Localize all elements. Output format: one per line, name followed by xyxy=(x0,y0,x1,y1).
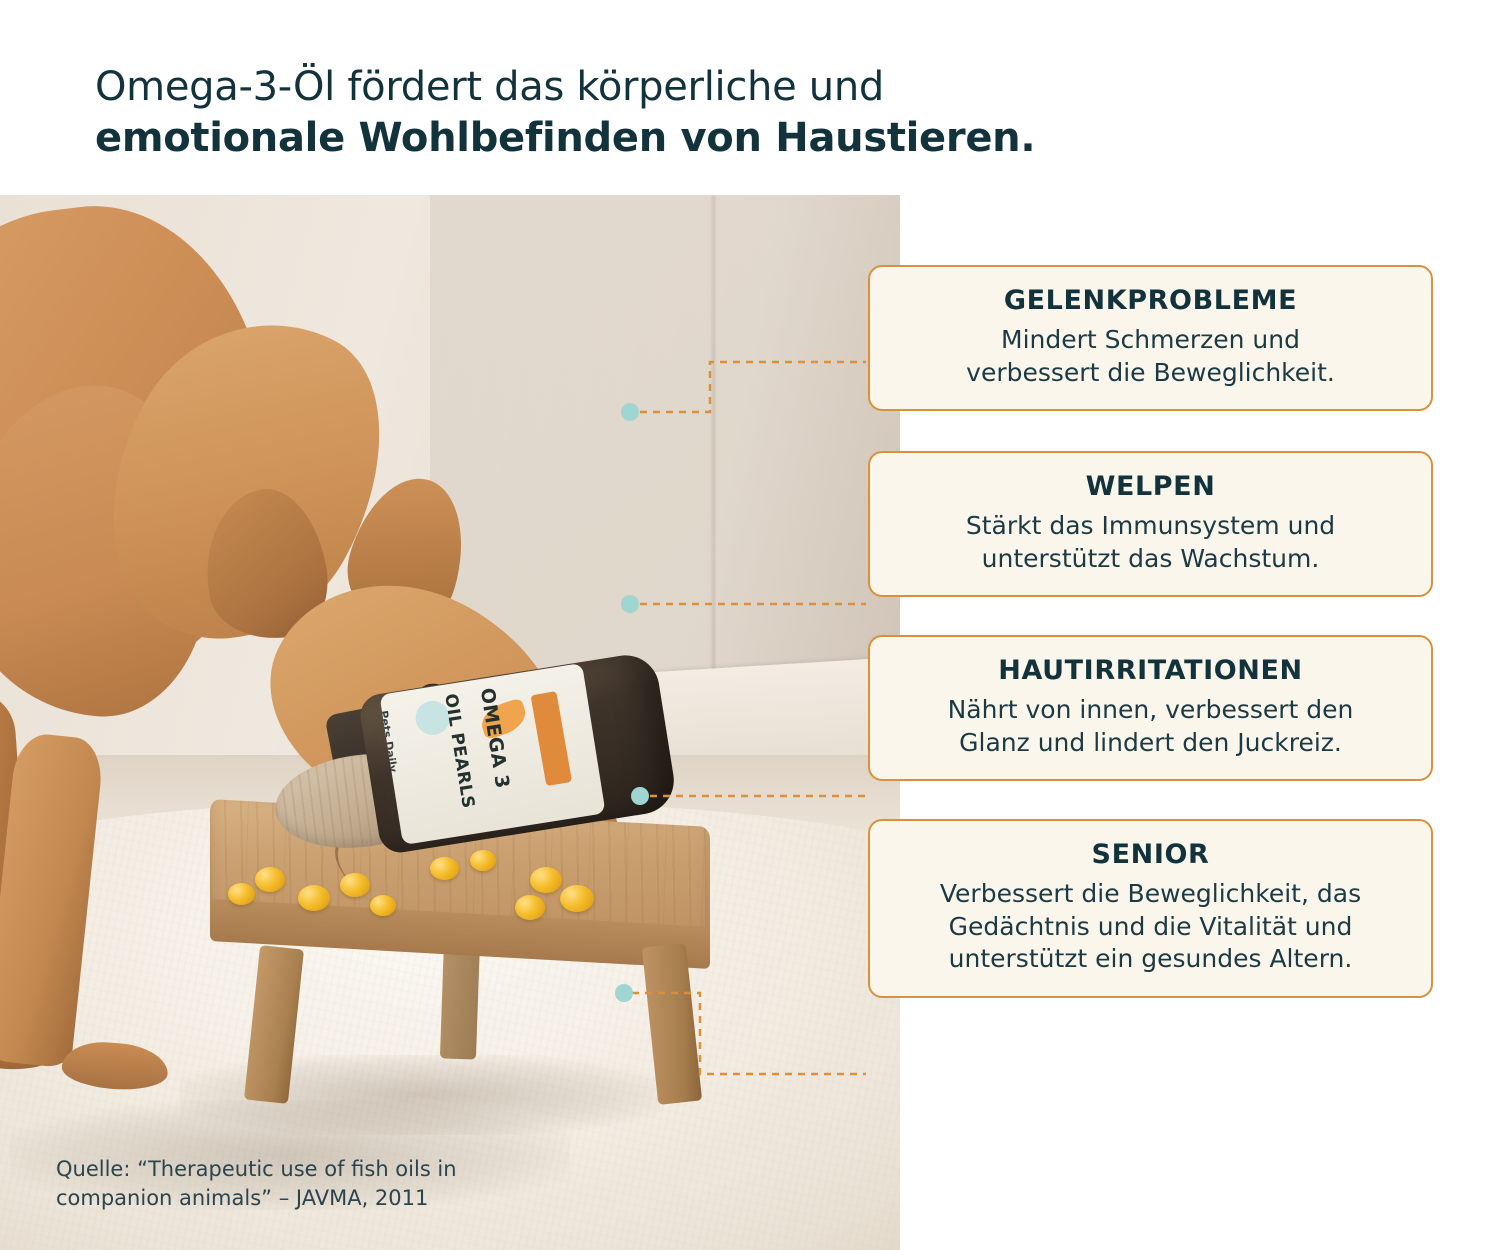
label-title: OIL PEARLS xyxy=(440,692,478,810)
page-title: Omega-3-Öl fördert das körperliche und e… xyxy=(95,62,1245,164)
card-text-line-2: Gedächtnis und die Vitalität und xyxy=(892,911,1409,944)
card-text-line-2: verbessert die Beweglichkeit. xyxy=(892,357,1409,390)
card-text-line-1: Verbessert die Beweglichkeit, das xyxy=(892,878,1409,911)
oil-capsule xyxy=(298,885,330,911)
oil-capsule xyxy=(370,895,396,916)
card-text-line-1: Nährt von innen, verbessert den xyxy=(892,694,1409,727)
product-photo: Pets Daily OIL PEARLS OMEGA 3 xyxy=(0,195,900,1250)
label-badge xyxy=(531,691,573,786)
bottle-label: Pets Daily OIL PEARLS OMEGA 3 xyxy=(379,663,605,845)
source-line-1: Quelle: “Therapeutic use of fish oils in xyxy=(56,1155,616,1183)
headline-line-2: emotionale Wohlbefinden von Haustieren. xyxy=(95,113,1245,164)
headline-line-1: Omega-3-Öl fördert das körperliche und xyxy=(95,62,1245,113)
oil-capsule xyxy=(560,885,594,912)
oil-capsule xyxy=(340,873,370,897)
source-note: Quelle: “Therapeutic use of fish oils in… xyxy=(56,1155,616,1212)
oil-capsule xyxy=(430,857,459,880)
oil-capsule xyxy=(470,850,496,871)
card-text-line-2: Glanz und lindert den Juckreiz. xyxy=(892,727,1409,760)
card-title: WELPEN xyxy=(892,471,1409,502)
oil-capsule xyxy=(228,883,255,905)
oil-capsule xyxy=(255,867,285,892)
card-text-line-1: Stärkt das Immunsystem und xyxy=(892,510,1409,543)
card-text-line-3: unterstützt ein gesundes Altern. xyxy=(892,943,1409,976)
source-line-2: companion animals” – JAVMA, 2011 xyxy=(56,1184,616,1212)
oil-capsule xyxy=(515,895,545,920)
card-title: GELENKPROBLEME xyxy=(892,285,1409,316)
stool-leg-middle xyxy=(440,938,480,1059)
benefit-cards: GELENKPROBLEME Mindert Schmerzen und ver… xyxy=(868,265,1438,1026)
benefit-card-gelenkprobleme[interactable]: GELENKPROBLEME Mindert Schmerzen und ver… xyxy=(868,265,1433,411)
oil-capsule xyxy=(530,867,562,893)
card-title: SENIOR xyxy=(892,839,1409,870)
benefit-card-senior[interactable]: SENIOR Verbessert die Beweglichkeit, das… xyxy=(868,819,1433,998)
card-title: HAUTIRRITATIONEN xyxy=(892,655,1409,686)
card-text-line-2: unterstützt das Wachstum. xyxy=(892,543,1409,576)
benefit-card-hautirritationen[interactable]: HAUTIRRITATIONEN Nährt von innen, verbes… xyxy=(868,635,1433,781)
benefit-card-welpen[interactable]: WELPEN Stärkt das Immunsystem und unters… xyxy=(868,451,1433,597)
infographic-root: Omega-3-Öl fördert das körperliche und e… xyxy=(0,0,1500,1250)
card-text-line-1: Mindert Schmerzen und xyxy=(892,324,1409,357)
